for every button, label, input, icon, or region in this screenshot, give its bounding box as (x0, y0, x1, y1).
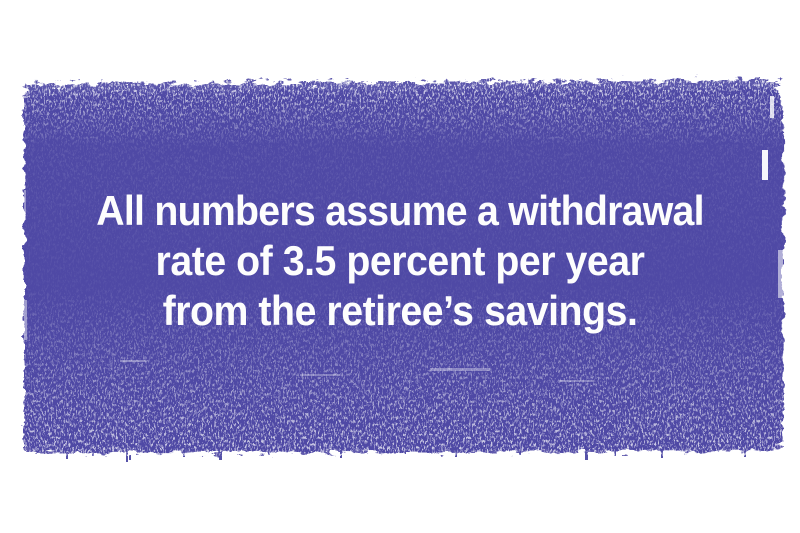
brush-speckle-texture (20, 78, 786, 456)
brush-panel-container (0, 0, 800, 533)
purple-brush-stroke-panel (0, 0, 800, 533)
slide-canvas: All numbers assume a withdrawal rate of … (0, 0, 800, 533)
